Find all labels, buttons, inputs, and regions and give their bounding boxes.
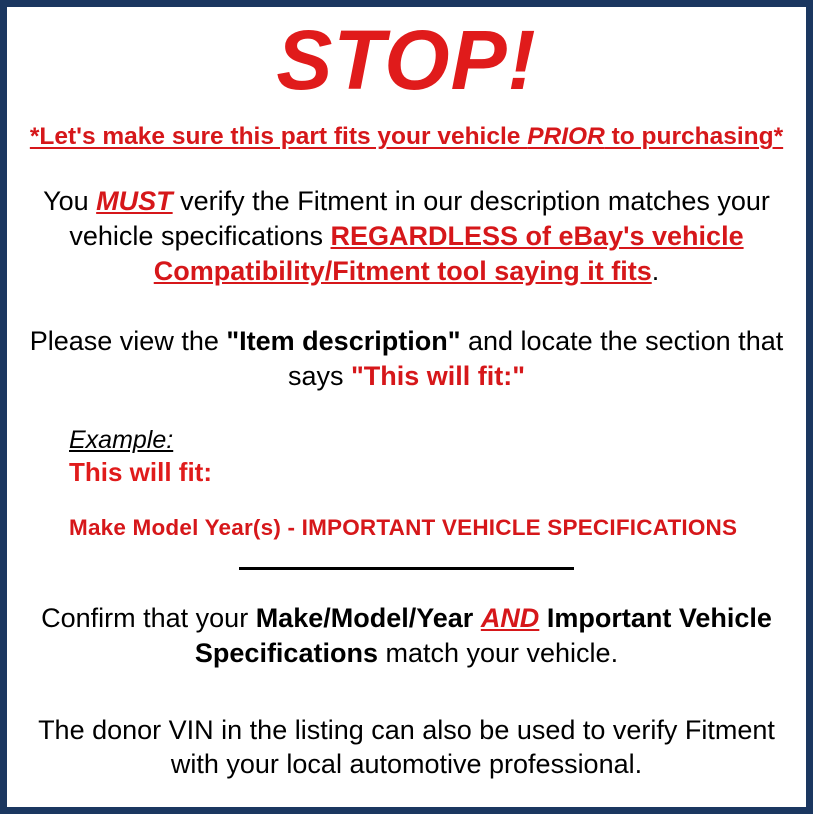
subheading-text-after: to purchasing* [605,123,783,150]
divider-wrap [21,567,792,579]
thank-you-message: Thank you for confirming Fitment! [21,782,792,814]
subheading-verify-fitment: *Let's make sure this part fits your veh… [21,101,792,151]
confirm-text-2: match your vehicle. [378,638,618,668]
example-block: Example: This will fit: Make Model Year(… [21,425,792,541]
must-text-1: You [43,186,96,216]
example-label-row: Example: [69,425,792,455]
confirm-space-2 [539,603,547,633]
confirm-space-1 [473,603,481,633]
paragraph-donor-vin: The donor VIN in the listing can also be… [21,713,792,782]
emphasis-make-model-year: Make/Model/Year [256,603,474,633]
emphasis-and: AND [481,603,540,633]
horizontal-divider [239,567,574,570]
example-vehicle-spec-line: Make Model Year(s) - IMPORTANT VEHICLE S… [69,488,792,541]
fitment-notice-card: STOP! *Let's make sure this part fits yo… [0,0,813,814]
example-label: Example: [69,425,173,455]
paragraph-must-verify: You MUST verify the Fitment in our descr… [21,184,792,288]
stop-heading: STOP! [21,7,792,101]
confirm-text-1: Confirm that your [41,603,256,633]
paragraph-item-description: Please view the "Item description" and l… [21,324,792,393]
paragraph-confirm-match: Confirm that your Make/Model/Year AND Im… [21,601,792,670]
notice-content: STOP! *Let's make sure this part fits yo… [7,7,806,807]
example-this-will-fit: This will fit: [69,455,792,488]
emphasis-this-will-fit: "This will fit:" [351,361,525,391]
subheading-emphasis-prior: PRIOR [527,123,605,150]
emphasis-item-description: "Item description" [226,326,460,356]
item-desc-text-1: Please view the [30,326,227,356]
emphasis-must: MUST [96,186,173,216]
must-text-3: . [652,256,660,286]
subheading-text-before: *Let's make sure this part fits your veh… [30,123,527,150]
